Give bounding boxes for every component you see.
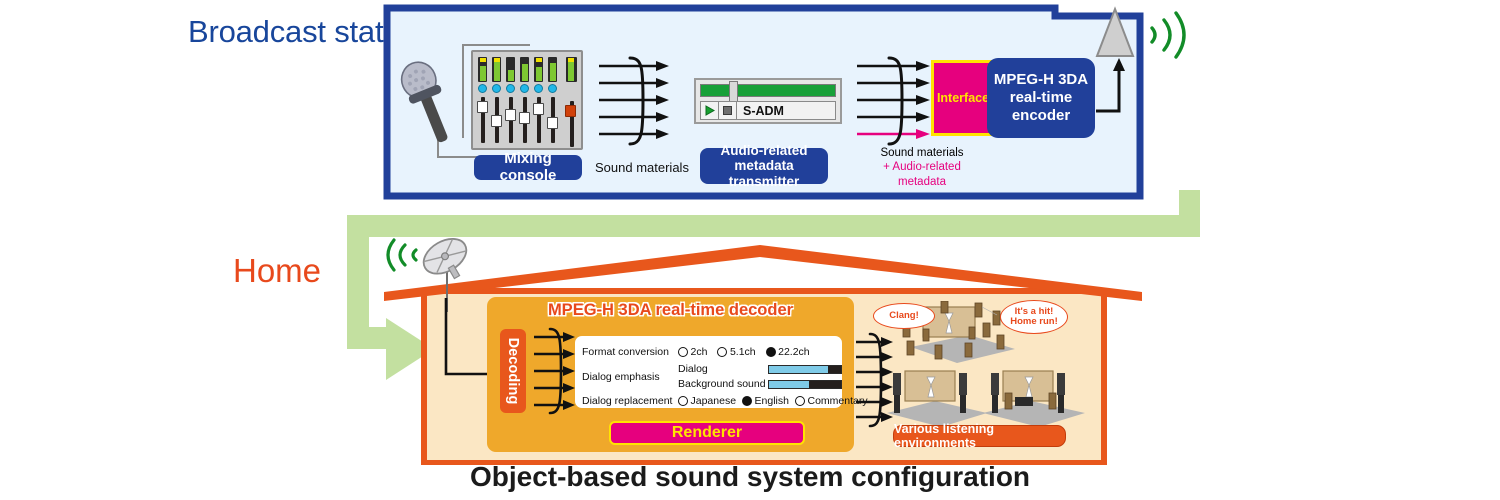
metadata-transmitter-line2: metadata transmitter (703, 158, 825, 188)
dialog-emphasis-label: Dialog emphasis (582, 371, 678, 383)
interface-label: Interface (937, 91, 989, 105)
decoder-title: MPEG-H 3DA real-time decoder (487, 301, 854, 320)
radio-english[interactable]: English (742, 395, 789, 407)
encoder-antenna-wire (1092, 55, 1142, 120)
sadm-label: S-ADM (737, 104, 784, 118)
radio-japanese[interactable]: Japanese (678, 395, 736, 407)
encoder-line-1: MPEG-H 3DA (994, 71, 1088, 89)
home-label: Home (233, 252, 321, 290)
channel-meter (478, 57, 487, 82)
slider-background-label: Background sound (678, 378, 768, 390)
bubble-hit-line2: Home run! (1010, 317, 1058, 327)
format-conversion-label: Format conversion (582, 346, 678, 358)
sound-materials-caption-2: Sound materials (880, 147, 963, 159)
channel-meter (506, 57, 515, 82)
mixing-console-label: Mixing console (474, 155, 582, 180)
sadm-player-widget[interactable]: S-ADM (694, 78, 842, 124)
channel-knob[interactable] (520, 84, 529, 93)
slider-dialog[interactable]: Dialog (678, 363, 842, 375)
channel-fader[interactable] (533, 103, 544, 115)
channel-fader[interactable] (519, 112, 530, 124)
decoding-block: Decoding (500, 329, 526, 413)
channel-knob[interactable] (492, 84, 501, 93)
radio-wave-icon (383, 238, 423, 272)
sadm-progress-thumb[interactable] (729, 81, 738, 102)
metadata-transmitter-label: Audio-related metadata transmitter (700, 148, 828, 184)
channel-meter (534, 57, 543, 82)
radio-2ch-label: 2ch (691, 346, 708, 358)
satellite-dish-icon (417, 232, 475, 288)
speech-bubble-home-run: It's a hit! Home run! (1000, 300, 1068, 334)
radio-wave-icon (1146, 6, 1192, 69)
sound-materials-metadata-caption: Sound materials + Audio-related metadata (858, 146, 986, 189)
slider-dialog-track[interactable] (768, 365, 842, 374)
radio-dot-selected (742, 396, 752, 406)
decoder-settings-card[interactable]: Format conversion 2ch 5.1ch 22.2ch Dialo… (575, 336, 842, 408)
dialog-replacement-label: Dialog replacement (582, 395, 678, 407)
sound-materials-arrow-bundle-2 (855, 52, 937, 157)
setting-row-dialog-replacement: Dialog replacement Japanese English Comm… (582, 390, 835, 412)
setting-row-dialog-emphasis: Dialog emphasis Dialog Background sound (582, 363, 835, 390)
channel-meter (492, 57, 501, 82)
channel-knob[interactable] (506, 84, 515, 93)
channel-knob[interactable] (548, 84, 557, 93)
mixing-console-graphic[interactable] (471, 50, 583, 150)
channel-fader[interactable] (547, 117, 558, 129)
speech-bubble-clang: Clang! (873, 303, 935, 329)
channel-meter (520, 57, 529, 82)
sound-materials-arrow-bundle-1 (597, 52, 675, 157)
radio-dot-selected (766, 347, 776, 357)
mpegh-encoder-block: MPEG-H 3DA real-time encoder (987, 58, 1095, 138)
channel-meter (548, 57, 557, 82)
master-fader[interactable] (565, 105, 576, 117)
renderer-button[interactable]: Renderer (609, 421, 805, 445)
play-icon[interactable] (701, 102, 719, 119)
encoder-line-2: real-time (994, 89, 1088, 107)
radio-english-label: English (755, 395, 789, 407)
sound-materials-caption: Sound materials (595, 160, 689, 175)
diagram-title: Object-based sound system configuration (0, 461, 1500, 493)
radio-51ch[interactable]: 5.1ch (717, 346, 755, 358)
various-listening-environments-label: Various listening environments (893, 425, 1066, 447)
audio-metadata-caption: + Audio-related metadata (883, 161, 961, 187)
channel-fader[interactable] (505, 109, 516, 121)
bubble-clang-text: Clang! (889, 311, 919, 321)
radio-dot (717, 347, 727, 357)
renderer-label: Renderer (672, 424, 742, 442)
radio-dot (795, 396, 805, 406)
channel-fader[interactable] (491, 115, 502, 127)
radio-dot (678, 347, 688, 357)
encoder-line-3: encoder (994, 107, 1088, 125)
decoding-label: Decoding (500, 329, 526, 413)
slider-dialog-label: Dialog (678, 363, 768, 375)
setting-row-format-conversion: Format conversion 2ch 5.1ch 22.2ch (582, 341, 835, 363)
radio-51ch-label: 5.1ch (730, 346, 756, 358)
channel-knob[interactable] (534, 84, 543, 93)
interface-block: Interface (931, 60, 995, 136)
master-meter (566, 57, 577, 82)
channel-fader[interactable] (477, 101, 488, 113)
channel-knob[interactable] (478, 84, 487, 93)
transmit-antenna-icon (1093, 6, 1137, 60)
radio-dot (678, 396, 688, 406)
slider-background-sound[interactable]: Background sound (678, 378, 842, 390)
radio-2ch[interactable]: 2ch (678, 346, 707, 358)
metadata-transmitter-line1: Audio-related (703, 143, 825, 158)
env-pill-text: Various listening environments (894, 422, 1065, 450)
decoder-arrow-bundle (533, 327, 577, 422)
sadm-progress-bar[interactable] (700, 84, 836, 97)
radio-japanese-label: Japanese (691, 395, 737, 407)
radio-222ch-label: 22.2ch (778, 346, 810, 358)
stop-icon[interactable] (719, 102, 737, 119)
radio-222ch[interactable]: 22.2ch (766, 346, 810, 358)
microphone-icon (398, 56, 460, 152)
slider-background-track[interactable] (768, 380, 842, 389)
